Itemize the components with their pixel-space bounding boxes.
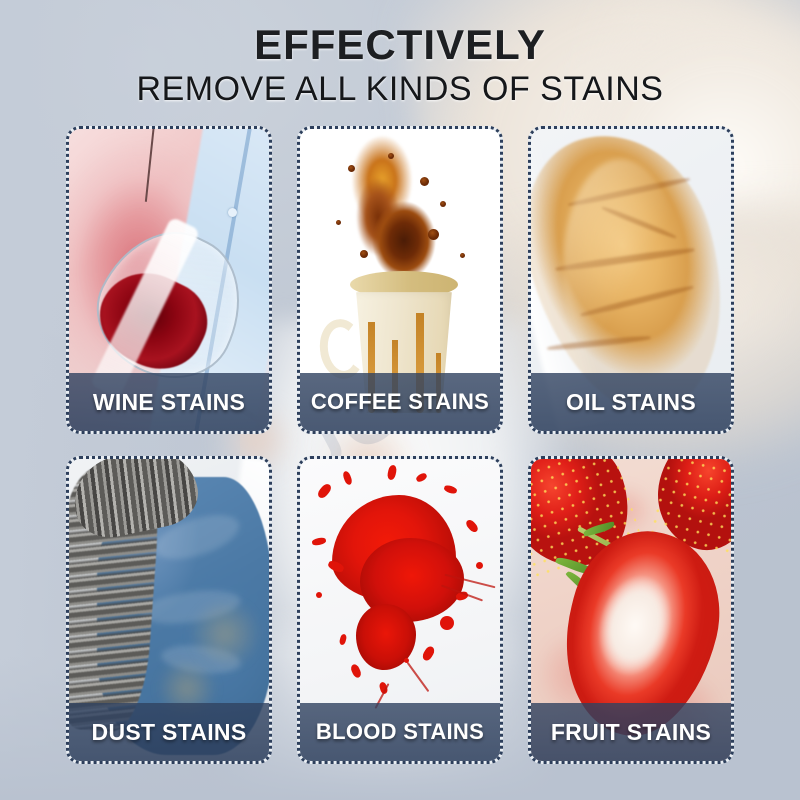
stain-card-blood-stains[interactable]: BLOOD STAINS: [297, 456, 503, 764]
card-label-text: WINE STAINS: [93, 389, 245, 416]
stain-type-grid: WINE STAINS COFFEE STAINS: [66, 126, 734, 764]
card-label-text: DUST STAINS: [92, 719, 247, 746]
card-label-text: COFFEE STAINS: [311, 389, 489, 415]
card-label-fruit-stains: FRUIT STAINS: [531, 703, 731, 761]
stain-card-wine-stains[interactable]: WINE STAINS: [66, 126, 272, 434]
title-line-2: REMOVE ALL KINDS OF STAINS: [0, 69, 800, 110]
page-title: EFFECTIVELY REMOVE ALL KINDS OF STAINS: [0, 22, 800, 110]
stain-card-dust-stains[interactable]: DUST STAINS: [66, 456, 272, 764]
card-label-dust-stains: DUST STAINS: [69, 703, 269, 761]
title-line-1: EFFECTIVELY: [0, 22, 800, 67]
card-label-coffee-stains: COFFEE STAINS: [300, 373, 500, 431]
card-label-text: FRUIT STAINS: [551, 719, 711, 746]
card-label-text: OIL STAINS: [566, 389, 696, 416]
card-label-oil-stains: OIL STAINS: [531, 373, 731, 431]
stain-card-oil-stains[interactable]: OIL STAINS: [528, 126, 734, 434]
stain-card-fruit-stains[interactable]: FRUIT STAINS: [528, 456, 734, 764]
card-label-blood-stains: BLOOD STAINS: [300, 703, 500, 761]
stain-card-coffee-stains[interactable]: COFFEE STAINS: [297, 126, 503, 434]
card-label-text: BLOOD STAINS: [316, 719, 484, 745]
card-label-wine-stains: WINE STAINS: [69, 373, 269, 431]
